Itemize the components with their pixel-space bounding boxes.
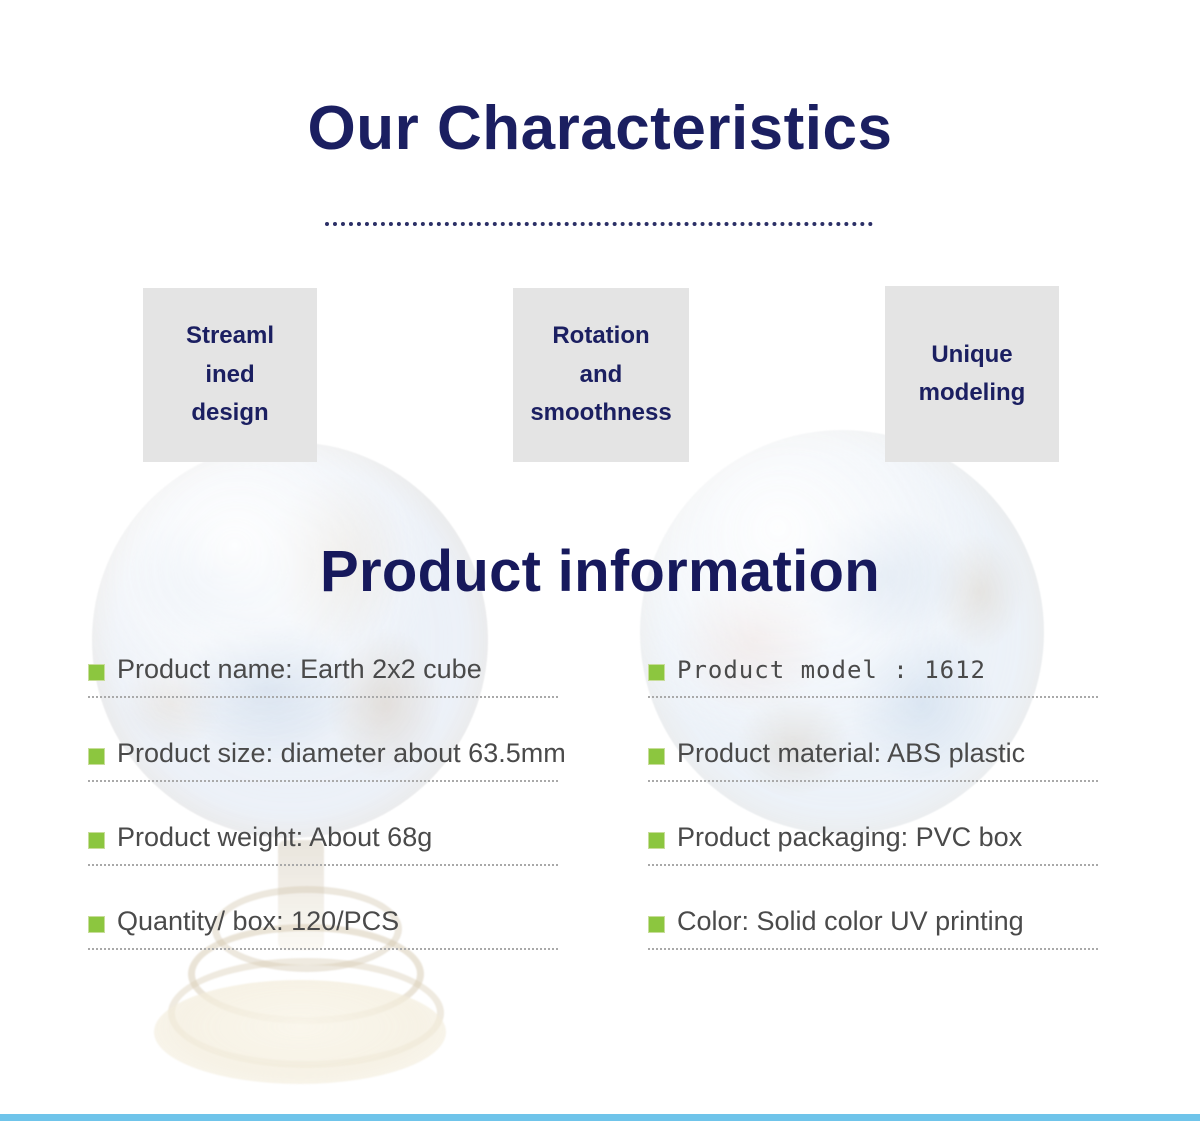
spec-dotted-underline xyxy=(648,780,1098,782)
spec-cell-product-model: Product model : 1612 xyxy=(648,648,1100,706)
spec-row: Product size: diameter about 63.5mm Prod… xyxy=(88,732,1100,816)
spec-row: Quantity/ box: 120/PCS Color: Solid colo… xyxy=(88,900,1100,984)
spec-cell-product-material: Product material: ABS plastic xyxy=(648,732,1100,790)
page-title: Our Characteristics xyxy=(0,96,1200,161)
spec-text: Product packaging: PVC box xyxy=(677,823,1022,853)
green-square-bullet-icon xyxy=(648,916,665,933)
product-information-grid: Product name: Earth 2x2 cube Product mod… xyxy=(88,648,1100,984)
spec-dotted-underline xyxy=(88,780,558,782)
green-square-bullet-icon xyxy=(88,664,105,681)
product-characteristics-page: Our Characteristics Streaml ined design … xyxy=(0,0,1200,1121)
spec-line: Product material: ABS plastic xyxy=(648,732,1100,776)
spec-cell-product-name: Product name: Earth 2x2 cube xyxy=(88,648,560,706)
spec-dotted-underline xyxy=(88,864,558,866)
green-square-bullet-icon xyxy=(648,664,665,681)
spec-line: Product name: Earth 2x2 cube xyxy=(88,648,560,692)
spec-text: Quantity/ box: 120/PCS xyxy=(117,907,399,937)
title-dotted-divider xyxy=(325,222,873,226)
spec-dotted-underline xyxy=(648,696,1098,698)
spec-text: Product size: diameter about 63.5mm xyxy=(117,739,566,769)
spec-dotted-underline xyxy=(648,864,1098,866)
spec-row: Product name: Earth 2x2 cube Product mod… xyxy=(88,648,1100,732)
product-information-title: Product information xyxy=(0,538,1200,605)
spec-line: Product weight: About 68g xyxy=(88,816,560,860)
spec-dotted-underline xyxy=(88,948,558,950)
feature-box-unique-modeling: Unique modeling xyxy=(885,286,1059,462)
spec-cell-quantity-per-box: Quantity/ box: 120/PCS xyxy=(88,900,560,958)
spec-cell-color: Color: Solid color UV printing xyxy=(648,900,1100,958)
feature-box-rotation-smoothness: Rotation and smoothness xyxy=(513,288,689,462)
spec-cell-product-size: Product size: diameter about 63.5mm xyxy=(88,732,560,790)
spec-dotted-underline xyxy=(88,696,558,698)
spec-cell-product-packaging: Product packaging: PVC box xyxy=(648,816,1100,874)
spec-text: Product weight: About 68g xyxy=(117,823,432,853)
spec-dotted-underline xyxy=(648,948,1098,950)
spec-text: Product material: ABS plastic xyxy=(677,739,1025,769)
spec-line: Quantity/ box: 120/PCS xyxy=(88,900,560,944)
spec-line: Product packaging: PVC box xyxy=(648,816,1100,860)
feature-box-label: Streaml ined design xyxy=(186,317,274,432)
globe-stand-base xyxy=(154,980,446,1084)
spec-line: Color: Solid color UV printing xyxy=(648,900,1100,944)
green-square-bullet-icon xyxy=(88,832,105,849)
feature-box-streamlined-design: Streaml ined design xyxy=(143,288,317,462)
feature-box-label: Rotation and smoothness xyxy=(530,317,671,432)
feature-box-label: Unique modeling xyxy=(919,336,1026,413)
spec-cell-product-weight: Product weight: About 68g xyxy=(88,816,560,874)
spec-text: Color: Solid color UV printing xyxy=(677,907,1024,937)
spec-row: Product weight: About 68g Product packag… xyxy=(88,816,1100,900)
green-square-bullet-icon xyxy=(88,916,105,933)
spec-line: Product model : 1612 xyxy=(648,648,1100,692)
spec-line: Product size: diameter about 63.5mm xyxy=(88,732,560,776)
green-square-bullet-icon xyxy=(648,832,665,849)
bottom-accent-bar xyxy=(0,1114,1200,1121)
spec-text: Product model : 1612 xyxy=(677,657,986,683)
green-square-bullet-icon xyxy=(88,748,105,765)
spec-text: Product name: Earth 2x2 cube xyxy=(117,655,482,685)
green-square-bullet-icon xyxy=(648,748,665,765)
